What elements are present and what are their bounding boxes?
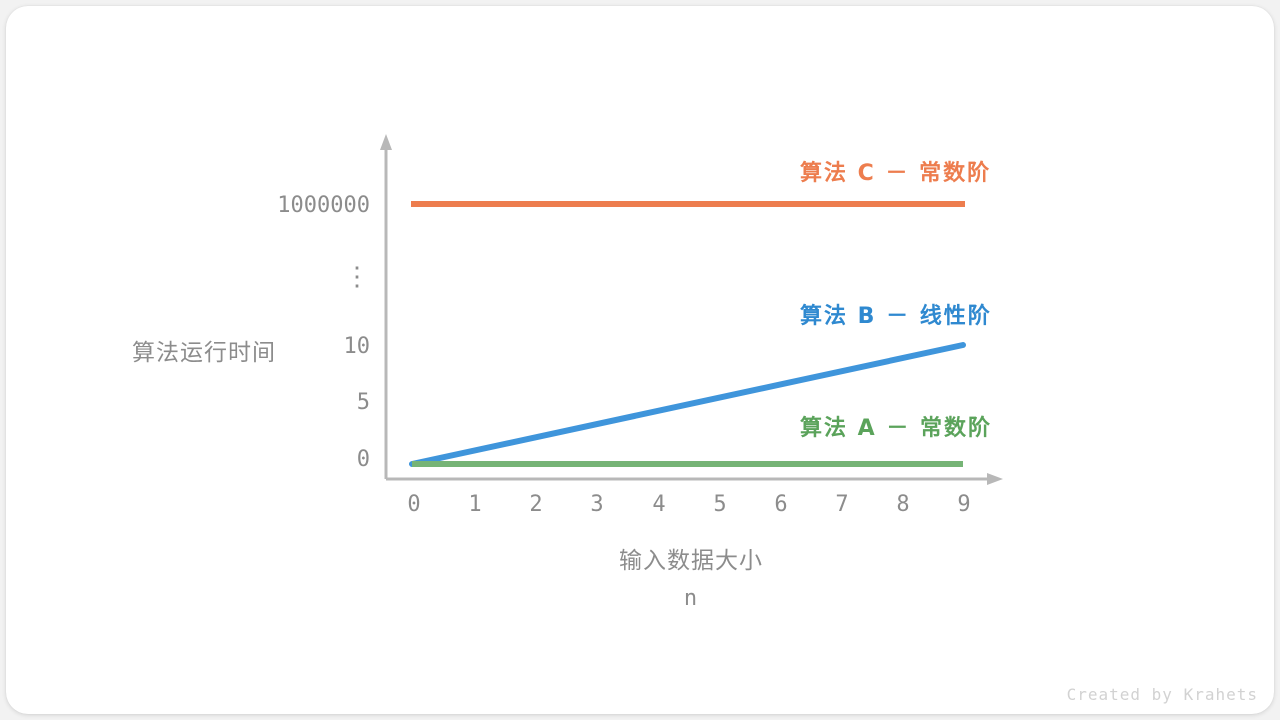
- series-line-b: [412, 345, 963, 464]
- y-tick-10: 10: [240, 334, 370, 359]
- x-axis: [386, 473, 1003, 485]
- credit-watermark: Created by Krahets: [1067, 685, 1258, 704]
- x-tick-6: 6: [761, 492, 801, 517]
- x-tick-5: 5: [700, 492, 740, 517]
- x-tick-9: 9: [944, 492, 984, 517]
- y-tick-1000000: 1000000: [240, 193, 370, 218]
- y-tick-0: 0: [240, 447, 370, 472]
- legend-series-a: 算法 A － 常数阶: [800, 410, 992, 442]
- y-tick-5: 5: [240, 390, 370, 415]
- x-axis-title: 输入数据大小 n: [494, 543, 888, 617]
- x-tick-3: 3: [577, 492, 617, 517]
- x-tick-0: 0: [394, 492, 434, 517]
- x-tick-1: 1: [455, 492, 495, 517]
- x-tick-8: 8: [883, 492, 923, 517]
- x-tick-4: 4: [639, 492, 679, 517]
- legend-series-c: 算法 C － 常数阶: [800, 155, 991, 187]
- y-tick-ellipsis: ⋮: [240, 262, 370, 292]
- y-axis: [380, 134, 392, 479]
- legend-series-b: 算法 B － 线性阶: [800, 298, 992, 330]
- x-axis-title-sub: n: [494, 580, 888, 617]
- x-tick-2: 2: [516, 492, 556, 517]
- x-axis-title-main: 输入数据大小: [619, 548, 763, 574]
- chart-page: 算法运行时间 输入数据大小 n 1000000 ⋮ 10 5 0 0 1 2 3…: [0, 0, 1280, 720]
- x-tick-7: 7: [822, 492, 862, 517]
